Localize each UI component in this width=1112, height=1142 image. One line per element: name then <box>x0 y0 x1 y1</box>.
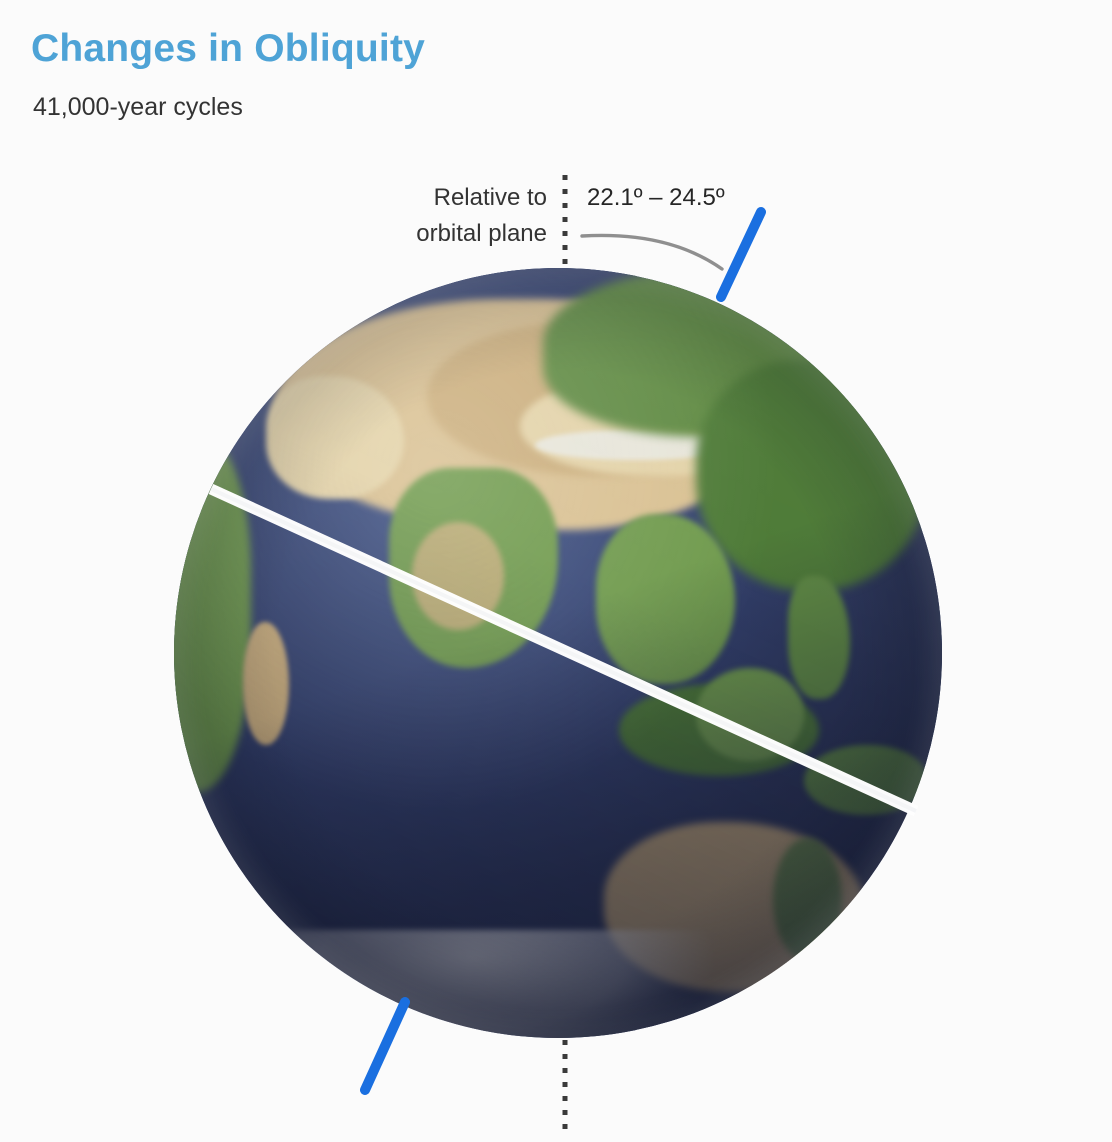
landmass-australia-east-coast <box>773 838 842 961</box>
obliquity-diagram-page: Changes in Obliquity 41,000-year cycles <box>0 0 1112 1142</box>
landmass-east-asia <box>696 360 926 591</box>
reference-label: Relative to orbital plane <box>300 180 547 252</box>
reference-label-line-1: Relative to <box>300 180 547 216</box>
landmass-borneo <box>696 668 804 760</box>
landmass-deccan <box>412 522 504 630</box>
earth-globe <box>174 268 942 1038</box>
page-title: Changes in Obliquity <box>31 27 425 71</box>
tilt-range-label: 22.1º – 24.5º <box>587 180 725 216</box>
globe-sphere <box>174 268 942 1038</box>
landmass-madagascar <box>243 622 289 745</box>
obliquity-angle-arc <box>582 235 722 269</box>
reference-label-line-2: orbital plane <box>300 216 547 252</box>
landmass-new-guinea <box>804 745 927 814</box>
page-subtitle: 41,000-year cycles <box>33 93 243 122</box>
landmass-indochina <box>596 514 734 683</box>
